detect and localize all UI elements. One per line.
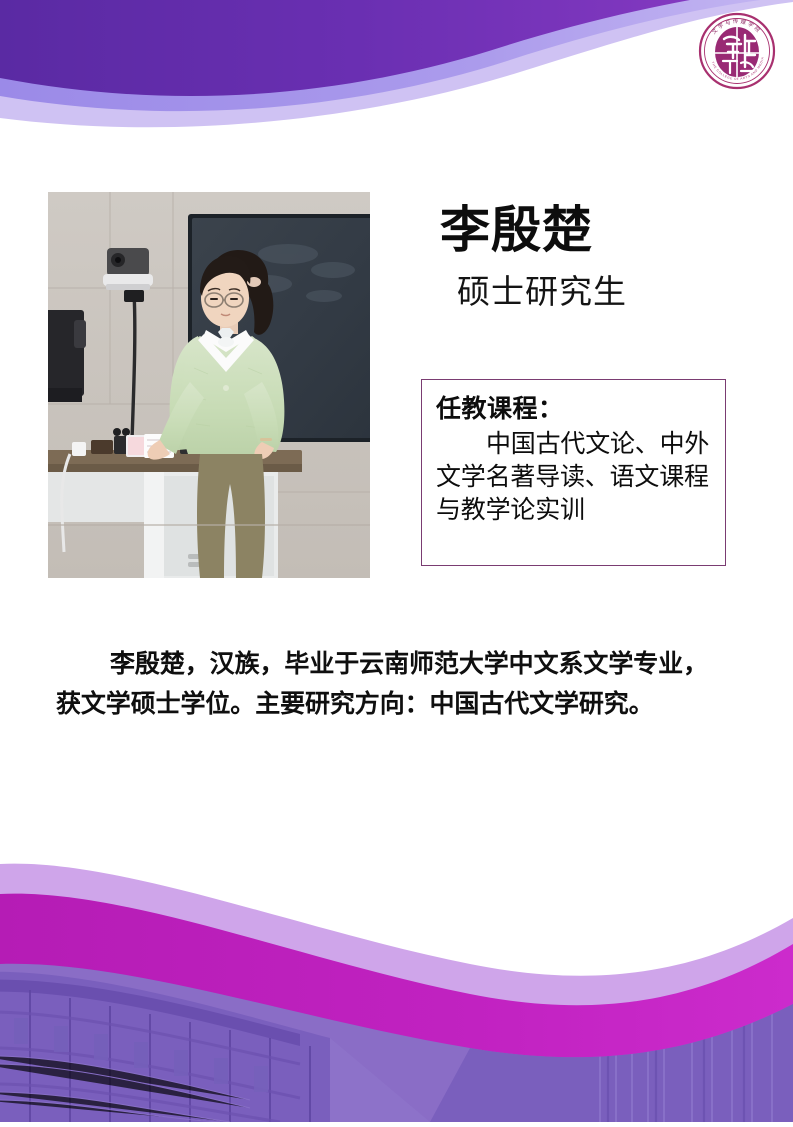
campus-building-silhouette — [0, 972, 793, 1122]
profile-name-block: 李殷楚 硕士研究生 — [440, 202, 770, 312]
top-wave-svg — [0, 0, 793, 150]
emblem-svg: 文学与传媒学院 THE COLLEGE OF ARTS AND MEDIA — [697, 11, 777, 91]
top-wave-decoration — [0, 0, 793, 150]
courses-box: 任教课程： 中国古代文论、中外文学名著导读、语文课程与教学论实训 — [421, 379, 726, 566]
bottom-wave-decoration — [0, 852, 793, 1122]
teacher-photo-svg — [48, 192, 370, 578]
courses-list: 中国古代文论、中外文学名著导读、语文课程与教学论实训 — [436, 427, 713, 527]
biography-paragraph: 李殷楚，汉族，毕业于云南师范大学中文系文学专业，获文学硕士学位。主要研究方向：中… — [56, 645, 708, 724]
teacher-photo — [48, 192, 370, 578]
courses-heading: 任教课程： — [436, 394, 713, 425]
bottom-wave-pale — [0, 864, 793, 1122]
top-wave-deep — [0, 0, 793, 96]
page-title: 李殷楚 — [440, 202, 770, 258]
classroom-camera — [103, 248, 153, 290]
top-wave-pale — [0, 0, 793, 127]
profile-academic-title: 硕士研究生 — [457, 272, 770, 312]
wall-monitor — [48, 310, 86, 402]
bottom-wave-magenta — [0, 894, 793, 1122]
bottom-wave-svg — [0, 852, 793, 1122]
bottom-wave-purple — [0, 964, 793, 1122]
top-wave-lavender — [0, 0, 793, 111]
university-emblem: 文学与传媒学院 THE COLLEGE OF ARTS AND MEDIA — [697, 11, 777, 91]
